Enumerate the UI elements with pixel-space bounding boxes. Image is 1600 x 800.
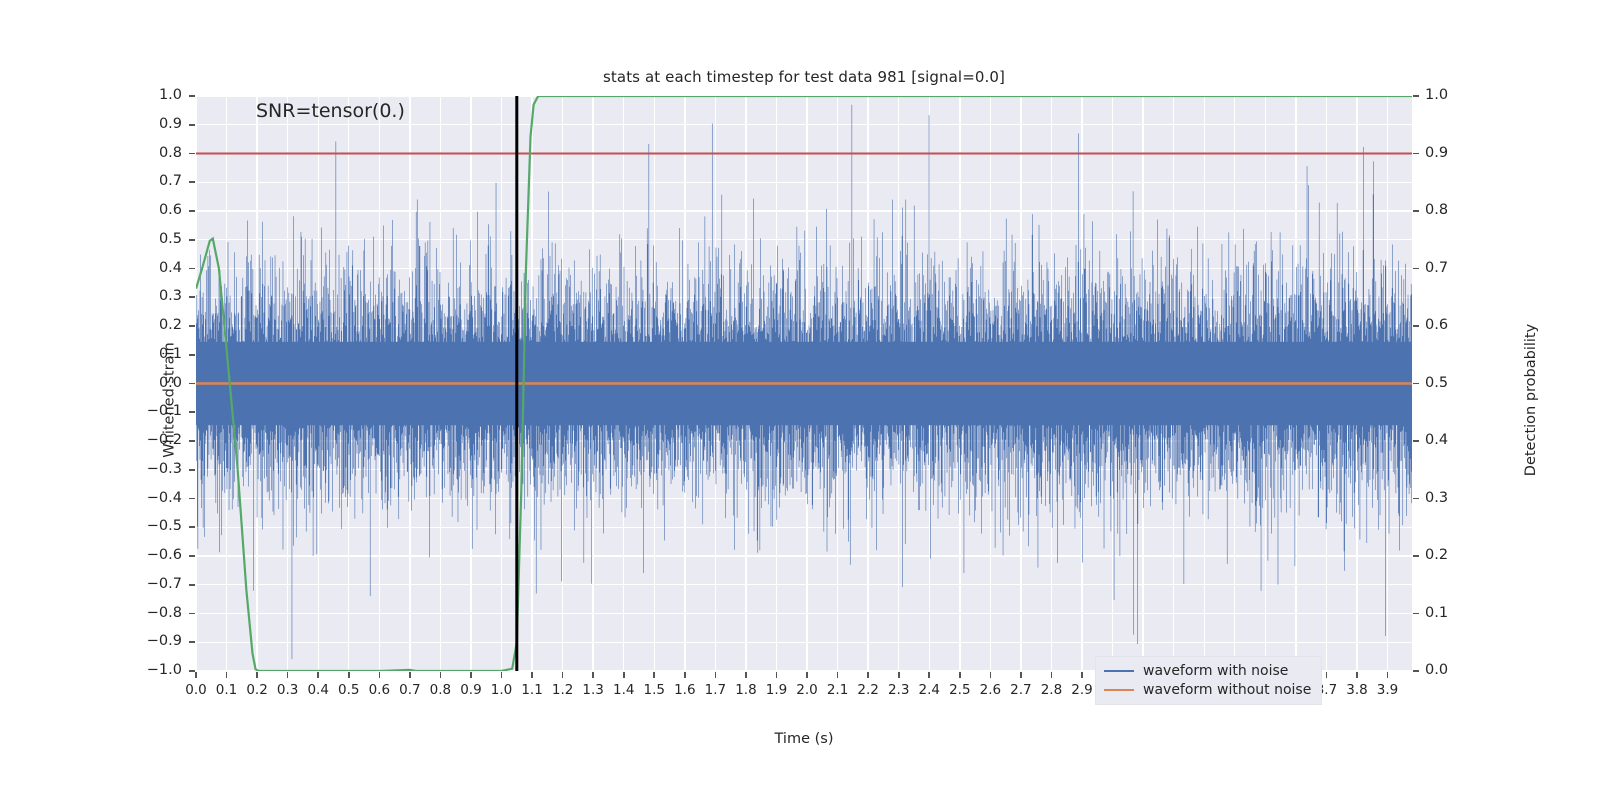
- y-tick-mark-right: [1413, 613, 1419, 615]
- legend-color-swatch: [1104, 670, 1134, 672]
- x-tick-mark: [837, 672, 839, 678]
- x-tick-mark: [592, 672, 594, 678]
- x-tick-mark: [317, 672, 319, 678]
- y-tick-mark-right: [1413, 268, 1419, 270]
- legend: waveform with noisewaveform without nois…: [1095, 656, 1322, 705]
- y-tick-mark-right: [1413, 440, 1419, 442]
- x-tick-mark: [501, 672, 503, 678]
- x-tick-mark: [287, 672, 289, 678]
- y-tick-mark-right: [1413, 555, 1419, 557]
- plot-area: [196, 96, 1412, 671]
- x-tick-mark: [379, 672, 381, 678]
- y-tick-mark-right: [1413, 153, 1419, 155]
- x-tick-mark: [653, 672, 655, 678]
- series-waveform-with-noise: [196, 105, 1412, 660]
- x-tick-mark: [623, 672, 625, 678]
- x-tick-mark: [562, 672, 564, 678]
- y-axis-label-left: Whitened strain: [112, 0, 227, 800]
- legend-item[interactable]: waveform with noise: [1104, 663, 1311, 679]
- x-tick-mark: [1326, 672, 1328, 678]
- x-tick-mark: [348, 672, 350, 678]
- x-tick-mark: [684, 672, 686, 678]
- x-tick-mark: [898, 672, 900, 678]
- legend-label: waveform without noise: [1143, 682, 1311, 698]
- x-tick-mark: [256, 672, 258, 678]
- x-axis-label: Time (s): [196, 731, 1412, 747]
- y-tick-mark-right: [1413, 95, 1419, 97]
- legend-label: waveform with noise: [1143, 663, 1288, 679]
- x-tick-mark: [990, 672, 992, 678]
- y-axis-label-right-text: Detection probability: [1523, 324, 1539, 476]
- x-tick-mark: [959, 672, 961, 678]
- y-tick-mark-right: [1413, 210, 1419, 212]
- y-tick-mark-right: [1413, 498, 1419, 500]
- y-tick-mark-right: [1413, 670, 1419, 672]
- figure: stats at each timestep for test data 981…: [0, 0, 1600, 800]
- y-axis-label-right: Detection probability: [1455, 0, 1600, 800]
- x-tick-mark: [867, 672, 869, 678]
- x-tick-mark: [715, 672, 717, 678]
- x-tick-mark: [470, 672, 472, 678]
- x-tick-mark: [928, 672, 930, 678]
- x-tick-mark: [409, 672, 411, 678]
- x-tick-mark: [1356, 672, 1358, 678]
- x-tick-label: 3.9: [1364, 682, 1412, 698]
- x-tick-mark: [1051, 672, 1053, 678]
- y-tick-mark-right: [1413, 325, 1419, 327]
- x-tick-mark: [1081, 672, 1083, 678]
- legend-color-swatch: [1104, 689, 1134, 691]
- x-tick-mark: [1020, 672, 1022, 678]
- plot-svg: [196, 96, 1412, 671]
- chart-title: stats at each timestep for test data 981…: [196, 68, 1412, 86]
- y-axis-label-left-text: Whitened strain: [162, 342, 178, 457]
- x-tick-mark: [806, 672, 808, 678]
- legend-item[interactable]: waveform without noise: [1104, 682, 1311, 698]
- x-tick-mark: [440, 672, 442, 678]
- x-tick-mark: [1387, 672, 1389, 678]
- y-tick-mark-right: [1413, 383, 1419, 385]
- x-tick-mark: [531, 672, 533, 678]
- x-tick-mark: [745, 672, 747, 678]
- snr-annotation: SNR=tensor(0.): [256, 100, 405, 122]
- data-layer: [196, 96, 1412, 671]
- x-tick-mark: [776, 672, 778, 678]
